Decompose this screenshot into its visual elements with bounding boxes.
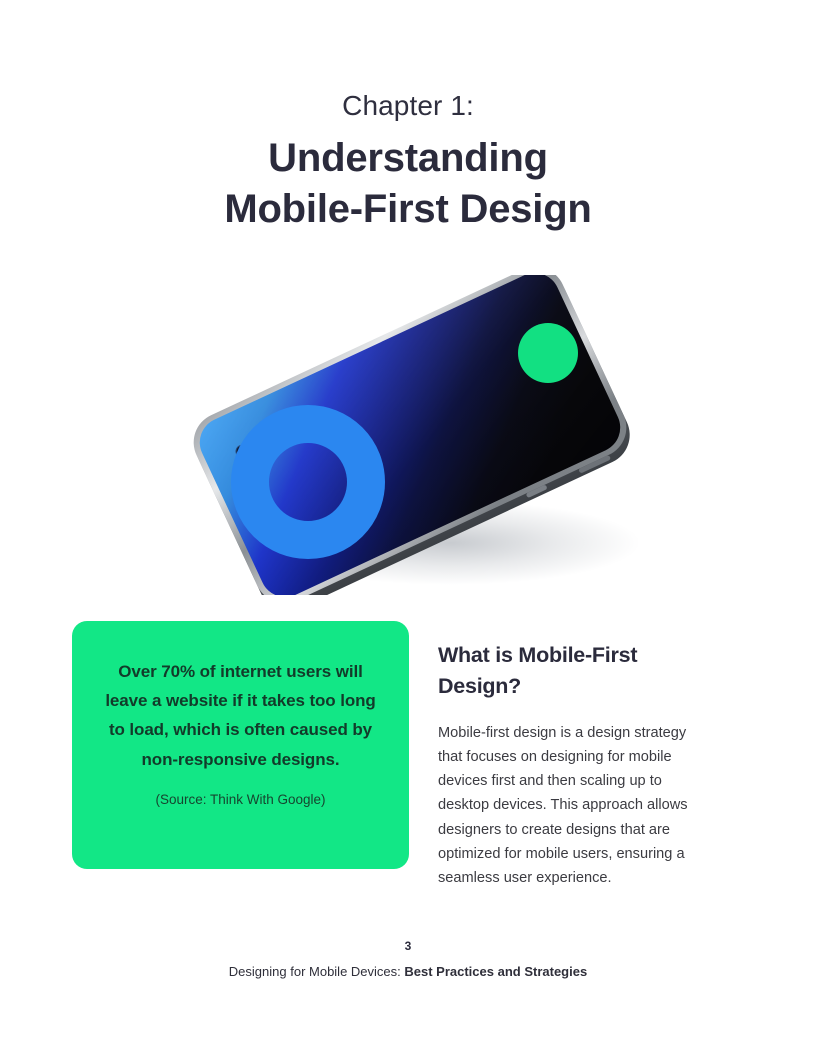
footer-document-title: Designing for Mobile Devices: Best Pract… — [0, 963, 816, 981]
statistic-callout-box: Over 70% of internet users will leave a … — [72, 621, 409, 869]
article-heading: What is Mobile-First Design? — [438, 640, 714, 703]
footer-title-regular: Designing for Mobile Devices: — [229, 964, 405, 979]
chapter-label: Chapter 1: — [0, 86, 816, 126]
page-footer: 3 Designing for Mobile Devices: Best Pra… — [0, 938, 816, 981]
smartphone-illustration — [150, 275, 670, 595]
document-page: Chapter 1: Understanding Mobile-First De… — [0, 0, 816, 1056]
footer-title-bold: Best Practices and Strategies — [404, 964, 587, 979]
callout-quote-text: Over 70% of internet users will leave a … — [98, 657, 383, 774]
chapter-heading-block: Chapter 1: Understanding Mobile-First De… — [0, 86, 816, 235]
callout-source-text: (Source: Think With Google) — [98, 790, 383, 810]
article-body-text: Mobile-first design is a design strategy… — [438, 721, 714, 890]
smartphone-illustration-svg — [150, 275, 670, 595]
page-title-line-1: Understanding — [0, 133, 816, 184]
page-title-line-2: Mobile-First Design — [0, 184, 816, 235]
page-number: 3 — [0, 938, 816, 954]
article-column: What is Mobile-First Design? Mobile-firs… — [438, 622, 714, 905]
accent-circle — [518, 323, 578, 383]
page-title: Understanding Mobile-First Design — [0, 133, 816, 235]
